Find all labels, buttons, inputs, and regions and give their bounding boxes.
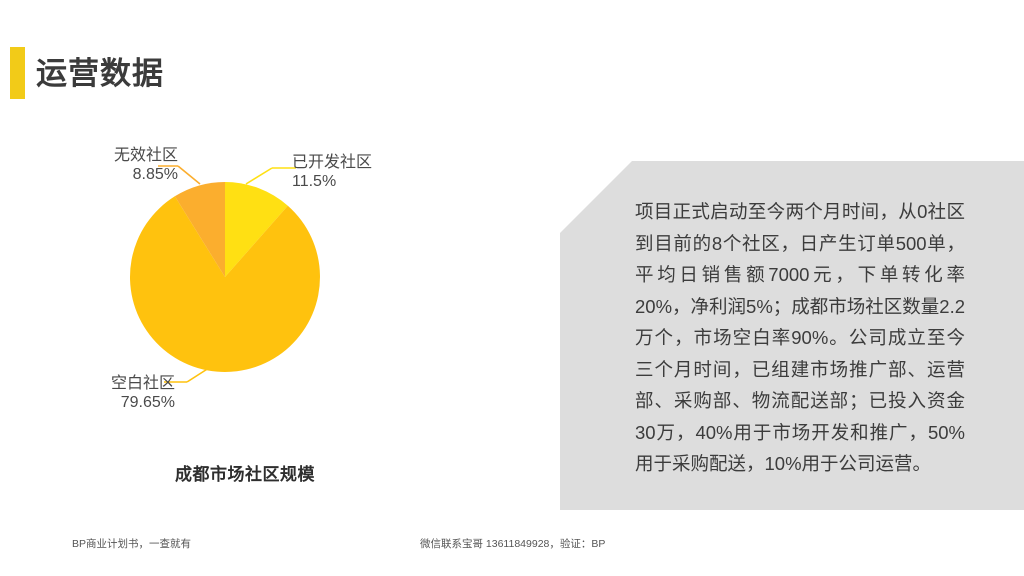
footer-left-text: BP商业计划书，一查就有 — [72, 536, 191, 551]
pie-label-invalid-value: 8.85% — [48, 165, 178, 184]
pie-label-developed-name: 已开发社区 — [292, 154, 372, 171]
pie-label-invalid-name: 无效社区 — [114, 147, 178, 164]
pie-label-invalid: 无效社区 8.85% — [48, 146, 178, 184]
title-accent-bar — [10, 47, 25, 99]
pie-chart-svg — [40, 140, 500, 470]
note-body-text: 项目正式启动至今两个月时间，从0社区到目前的8个社区，日产生订单500单，平均日… — [635, 196, 965, 480]
pie-label-blank-value: 79.65% — [40, 393, 175, 412]
pie-label-blank: 空白社区 79.65% — [40, 374, 175, 412]
pie-label-developed-value: 11.5% — [292, 172, 372, 191]
leader-line-invalid — [178, 166, 200, 184]
page-title: 运营数据 — [36, 52, 164, 96]
pie-label-blank-name: 空白社区 — [111, 375, 175, 392]
leader-line-developed — [246, 168, 272, 184]
pie-label-developed: 已开发社区 11.5% — [292, 153, 372, 191]
pie-chart-block: 已开发社区 11.5% 无效社区 8.85% 空白社区 79.65% 成都市场社… — [40, 140, 500, 500]
footer-center-text: 微信联系宝哥 13611849928，验证：BP — [420, 536, 605, 551]
chart-title: 成都市场社区规模 — [95, 460, 395, 485]
